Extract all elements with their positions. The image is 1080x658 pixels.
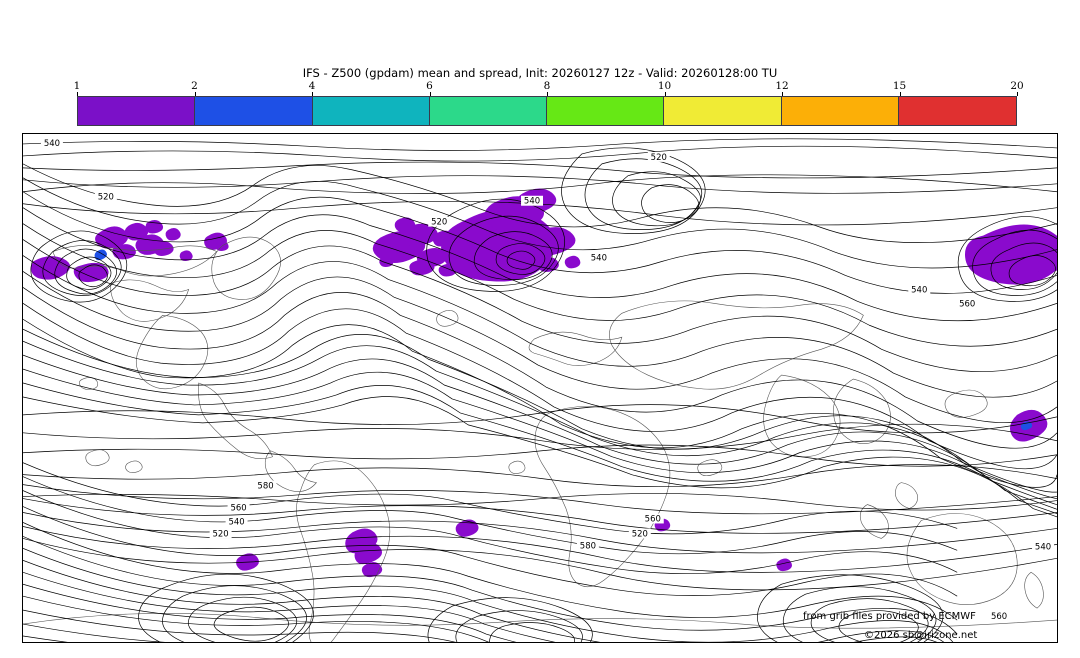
contour-label: 540	[588, 253, 610, 263]
colorbar-tick-2: 2	[191, 80, 198, 92]
contour-label: 540	[521, 196, 543, 206]
map-panel[interactable]: 540 520 520 540 520	[22, 133, 1058, 643]
svg-text:540: 540	[1035, 541, 1051, 551]
colorbar-segment-8-10	[547, 97, 664, 125]
contour-label: 560	[642, 513, 664, 523]
svg-text:560: 560	[959, 298, 975, 308]
svg-text:540: 540	[228, 516, 244, 526]
contour-label: 540	[1032, 541, 1054, 551]
colorbar-tick-20: 20	[1010, 80, 1023, 92]
colorbar: 1246810121520	[77, 96, 1017, 126]
colorbar-tickmark-20	[1017, 92, 1018, 96]
svg-text:580: 580	[580, 540, 596, 550]
contour-label: 580	[255, 481, 277, 491]
colorbar-segment-2-4	[195, 97, 312, 125]
contour-label: 540	[908, 284, 930, 294]
contour-label: 520	[629, 528, 651, 538]
contour-label: 540	[226, 516, 248, 526]
svg-text:540: 540	[591, 253, 607, 263]
colorbar-tick-12: 12	[775, 80, 788, 92]
colorbar-segment-4-6	[313, 97, 430, 125]
svg-text:520: 520	[431, 217, 447, 227]
contour-label: 540	[41, 138, 63, 148]
svg-text:560: 560	[991, 611, 1007, 621]
svg-text:580: 580	[257, 481, 273, 491]
svg-text:540: 540	[524, 196, 540, 206]
contour-label: 520	[95, 192, 117, 202]
svg-text:540: 540	[44, 138, 60, 148]
contour-label: 520	[428, 217, 450, 227]
contour-label: 560	[956, 298, 978, 308]
contour-label: 520	[648, 152, 670, 162]
svg-text:520: 520	[98, 192, 114, 202]
contour-label: 560	[228, 503, 250, 513]
contour-label: 580	[577, 540, 599, 550]
svg-text:540: 540	[911, 284, 927, 294]
colorbar-segment-12-15	[782, 97, 899, 125]
page-title: IFS - Z500 (gpdam) mean and spread, Init…	[0, 66, 1080, 80]
colorbar-tick-10: 10	[658, 80, 671, 92]
svg-text:520: 520	[651, 152, 667, 162]
colorbar-tick-1: 1	[74, 80, 81, 92]
contour-label: 560	[988, 611, 1010, 621]
colorbar-segment-15-20	[899, 97, 1016, 125]
map-contour-plot: 540 520 520 540 520	[23, 134, 1057, 642]
svg-text:560: 560	[230, 503, 246, 513]
colorbar-segment-1-2	[78, 97, 195, 125]
contour-label: 520	[210, 528, 232, 538]
colorbar-tick-labels: 1246810121520	[77, 80, 1017, 96]
data-source-credit: from grib files provided by ECMWF	[803, 611, 976, 622]
coastline-layer	[23, 237, 1057, 642]
svg-text:560: 560	[645, 513, 661, 523]
colorbar-tick-15: 15	[893, 80, 906, 92]
colorbar-tick-4: 4	[309, 80, 316, 92]
colorbar-tick-8: 8	[544, 80, 551, 92]
svg-text:520: 520	[632, 528, 648, 538]
colorbar-segment-10-12	[664, 97, 781, 125]
colorbar-tick-6: 6	[426, 80, 433, 92]
colorbar-gradient	[77, 96, 1017, 126]
svg-text:520: 520	[213, 528, 229, 538]
copyright-credit: ©2026 sb@irizone.net	[864, 630, 977, 641]
colorbar-segment-6-8	[430, 97, 547, 125]
